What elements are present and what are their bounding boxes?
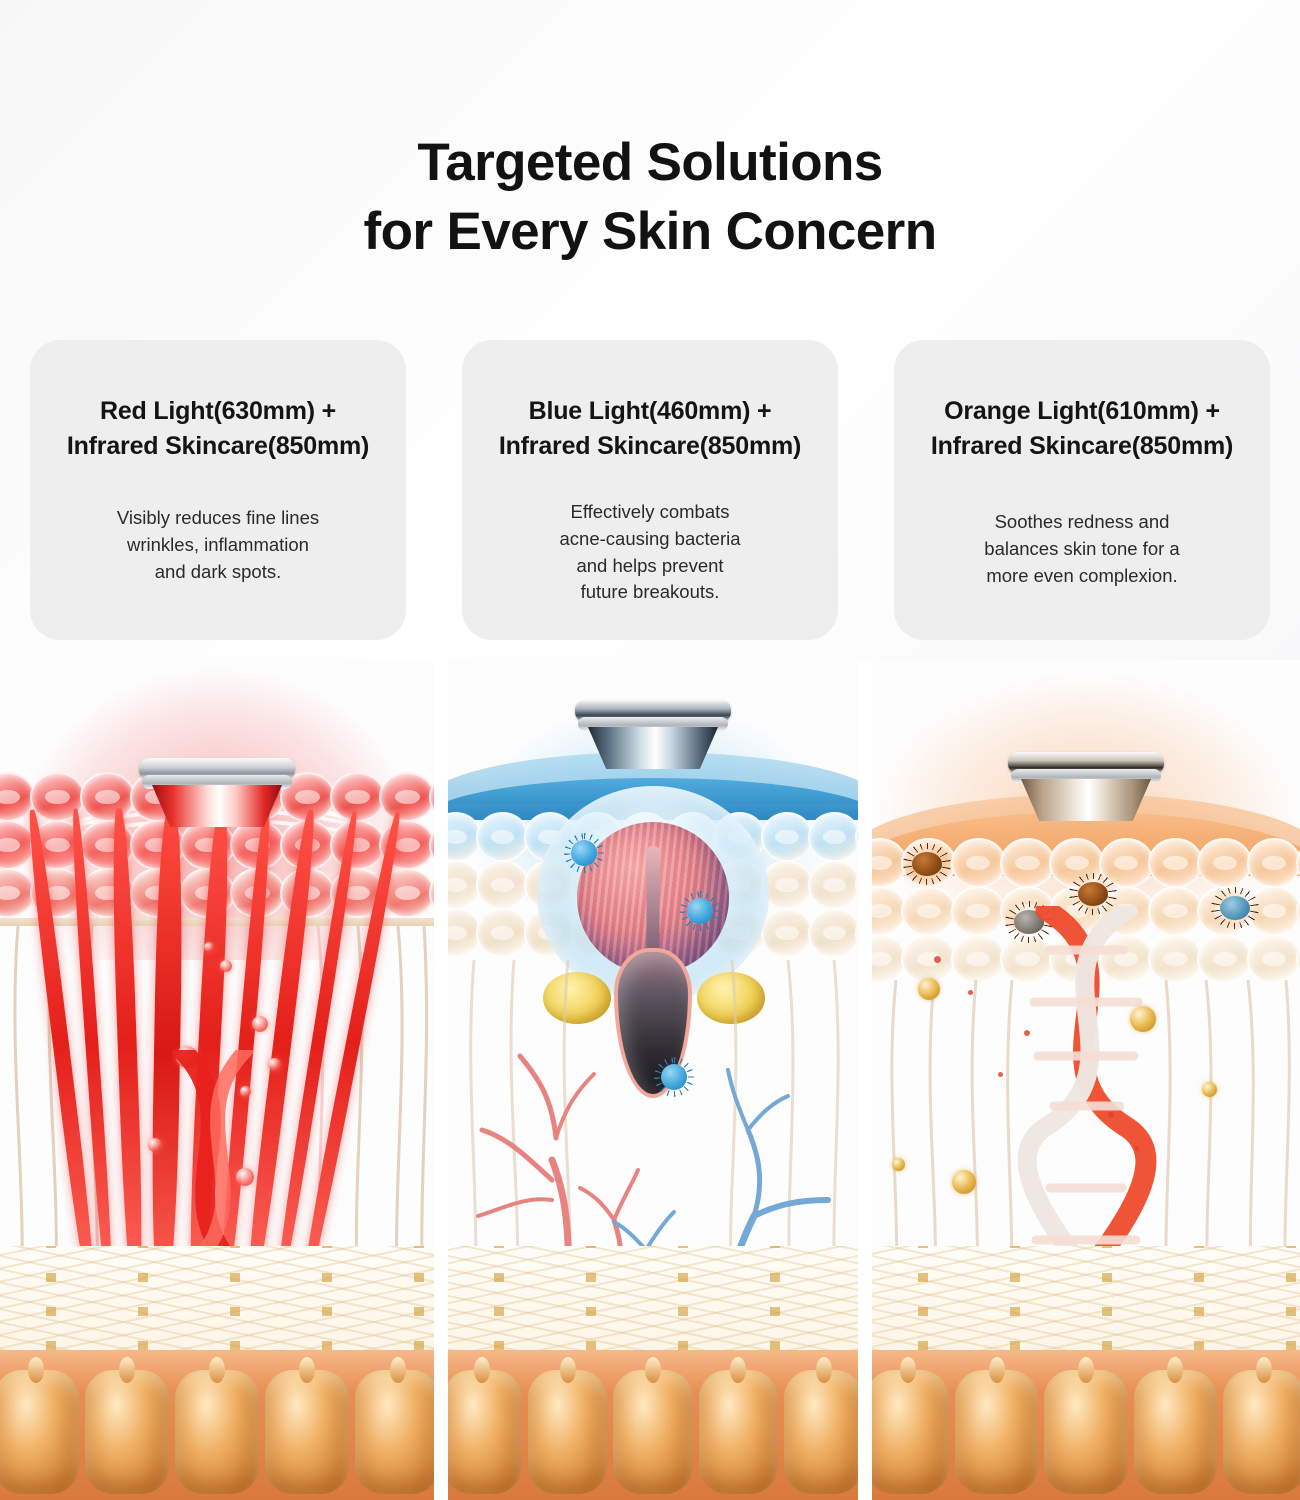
card-desc-line-4: future breakouts. — [560, 579, 741, 606]
pigment-dust — [1108, 1112, 1114, 1118]
card-title-line-2: Infrared Skincare(850mm) — [67, 429, 369, 464]
subcutaneous-fat-layer — [0, 1350, 434, 1500]
feature-card-blue-light[interactable]: Blue Light(460mm) + Infrared Skincare(85… — [462, 340, 838, 640]
card-description: Visibly reduces fine lines wrinkles, inf… — [117, 505, 319, 585]
gold-particle — [892, 1158, 905, 1171]
card-desc-line-2: acne-causing bacteria — [560, 526, 741, 553]
card-title-line-1: Orange Light(610mm) + — [944, 397, 1220, 425]
device-body — [588, 727, 718, 769]
orange-light-device-head — [1008, 752, 1164, 822]
page-title: Targeted Solutions for Every Skin Concer… — [0, 128, 1300, 268]
page-title-line-1: Targeted Solutions — [417, 133, 882, 192]
card-desc-line-3: and dark spots. — [117, 559, 319, 586]
pigment-dust — [1134, 1146, 1139, 1151]
device-body — [1021, 779, 1151, 821]
pigment-dust — [968, 990, 973, 995]
card-title-line-1: Red Light(630mm) + — [100, 397, 336, 425]
page-title-line-2: for Every Skin Concern — [0, 197, 1300, 267]
card-title: Orange Light(610mm) + Infrared Skincare(… — [931, 394, 1233, 463]
card-desc-line-2: balances skin tone for a — [984, 536, 1179, 563]
card-desc-line-1: Effectively combats — [560, 499, 741, 526]
card-desc-line-1: Soothes redness and — [984, 509, 1179, 536]
subcutaneous-fat-layer — [448, 1350, 858, 1500]
gold-particle — [952, 1170, 976, 1194]
card-title: Red Light(630mm) + Infrared Skincare(850… — [67, 394, 369, 463]
product-feature-page: Targeted Solutions for Every Skin Concer… — [0, 0, 1300, 1500]
gold-particle — [1130, 1006, 1156, 1032]
pigment-dust — [1024, 1030, 1030, 1036]
blue-light-device-head — [575, 700, 731, 770]
illustration-red-light — [0, 660, 434, 1500]
reticular-collagen-mesh — [0, 1246, 434, 1350]
gold-particle — [918, 978, 940, 1000]
feature-card-red-light[interactable]: Red Light(630mm) + Infrared Skincare(850… — [30, 340, 406, 640]
subcutaneous-fat-layer — [872, 1350, 1300, 1500]
reticular-collagen-mesh — [872, 1246, 1300, 1350]
panel-divider-1 — [434, 660, 448, 1500]
feature-card-orange-light[interactable]: Orange Light(610mm) + Infrared Skincare(… — [894, 340, 1270, 640]
device-body — [152, 785, 282, 827]
gold-particle — [1202, 1082, 1217, 1097]
card-desc-line-1: Visibly reduces fine lines — [117, 505, 319, 532]
card-title-line-1: Blue Light(460mm) + — [529, 397, 772, 425]
reticular-collagen-mesh — [448, 1246, 858, 1350]
illustration-orange-light — [872, 660, 1300, 1500]
card-description: Effectively combats acne-causing bacteri… — [560, 499, 741, 606]
card-desc-line-3: more even complexion. — [984, 563, 1179, 590]
card-description: Soothes redness and balances skin tone f… — [984, 509, 1179, 589]
illustration-strip — [0, 660, 1300, 1500]
feature-card-list: Red Light(630mm) + Infrared Skincare(850… — [30, 340, 1270, 640]
panel-divider-2 — [858, 660, 872, 1500]
pigment-dust — [934, 956, 941, 963]
pigment-dust — [998, 1072, 1003, 1077]
card-desc-line-3: and helps prevent — [560, 553, 741, 580]
illustration-blue-light — [448, 660, 858, 1500]
card-title: Blue Light(460mm) + Infrared Skincare(85… — [499, 394, 801, 463]
card-desc-line-2: wrinkles, inflammation — [117, 532, 319, 559]
red-light-device-head — [139, 758, 295, 828]
card-title-line-2: Infrared Skincare(850mm) — [931, 429, 1233, 464]
card-title-line-2: Infrared Skincare(850mm) — [499, 429, 801, 464]
